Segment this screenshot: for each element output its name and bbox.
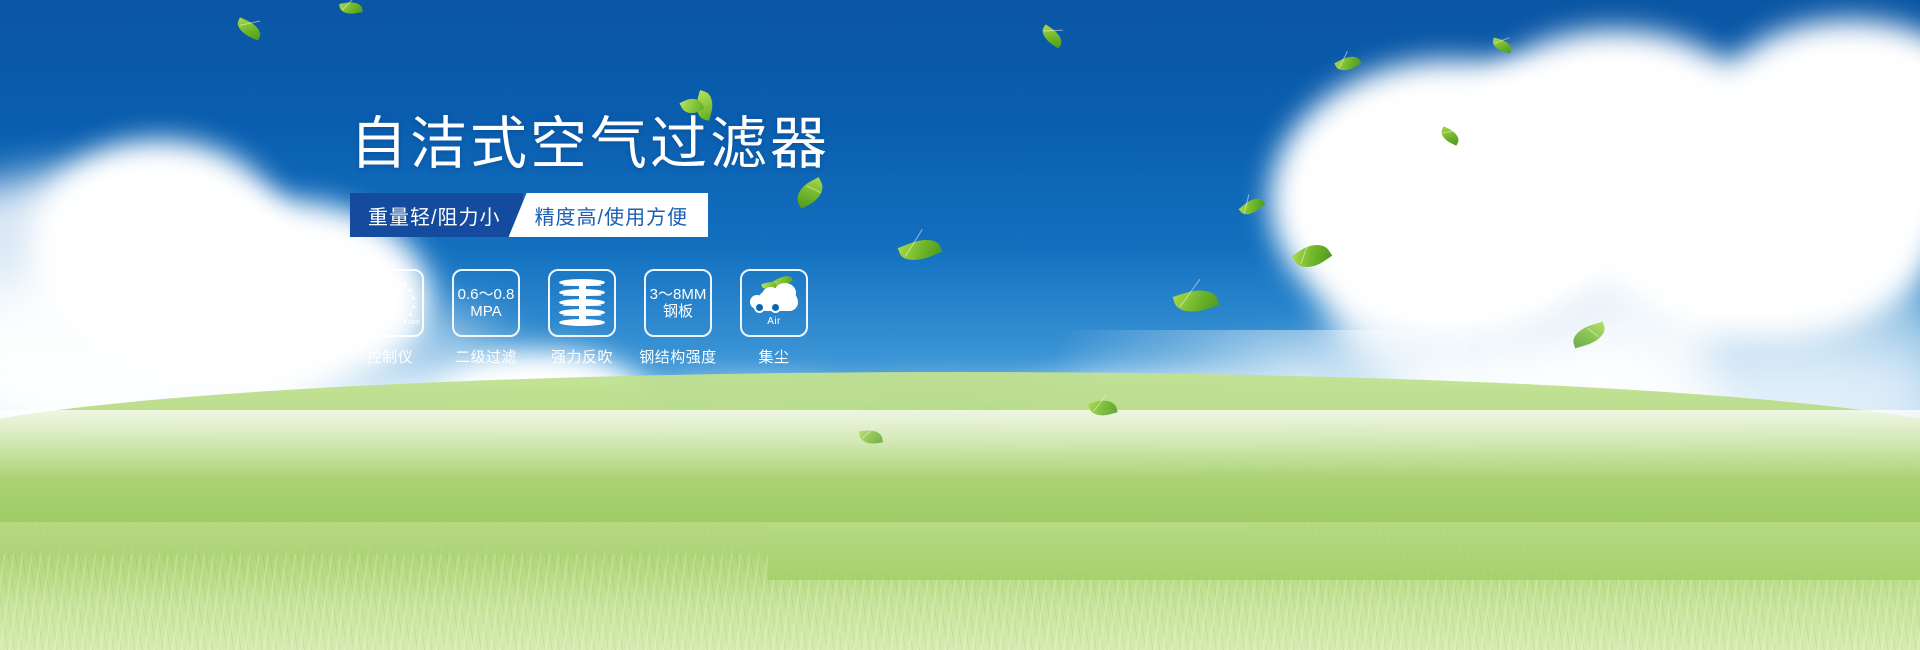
feature-icon-list: NO OFF 控制仪 0.6～0.8 MPA 二级过滤 — [355, 269, 809, 367]
steel-spec: 3～8MM 钢板 — [650, 286, 707, 320]
badge-weight-resistance: 重量轻/阻力小 — [350, 193, 523, 237]
pressure-unit: MPA — [458, 303, 515, 320]
pressure-range: 0.6～0.8 — [458, 286, 515, 303]
feature-item-dust-collection[interactable]: Air 集尘 — [739, 269, 809, 367]
feature-item-two-stage-filter[interactable]: 0.6～0.8 MPA 二级过滤 — [451, 269, 521, 367]
steel-material: 钢板 — [650, 303, 707, 320]
air-label: Air — [748, 316, 800, 327]
banner-content: 自洁式空气过滤器 重量轻/阻力小 精度高/使用方便 — [0, 0, 1920, 650]
dust-cloud-icon: Air — [748, 281, 800, 325]
feature-caption: 控制仪 — [367, 346, 414, 367]
page-title: 自洁式空气过滤器 — [350, 112, 830, 176]
feature-badges: 重量轻/阻力小 精度高/使用方便 — [350, 193, 708, 237]
feature-caption: 钢结构强度 — [639, 346, 717, 367]
feature-caption: 二级过滤 — [455, 346, 517, 367]
feature-item-backblow[interactable]: 强力反吹 — [547, 269, 617, 367]
cartridge-icon — [559, 278, 605, 328]
steel-thickness: 3～8MM — [650, 286, 707, 303]
title-leaf-icon — [682, 92, 724, 120]
feature-icon-box — [548, 269, 616, 337]
feature-icon-box: 0.6～0.8 MPA — [452, 269, 520, 337]
feature-caption: 集尘 — [758, 346, 789, 367]
gauge-label-on: NO — [361, 309, 370, 315]
feature-icon-box: Air — [740, 269, 808, 337]
feature-item-steel-strength[interactable]: 3～8MM 钢板 钢结构强度 — [643, 269, 713, 367]
feature-item-controller[interactable]: NO OFF 控制仪 — [355, 269, 425, 367]
product-banner: 自洁式空气过滤器 重量轻/阻力小 精度高/使用方便 — [0, 0, 1920, 650]
pressure-spec: 0.6～0.8 MPA — [458, 286, 515, 320]
gauge-icon: NO OFF — [363, 279, 417, 327]
feature-icon-box: NO OFF — [356, 269, 424, 337]
feature-caption: 强力反吹 — [551, 346, 613, 367]
badge-precision-ease: 精度高/使用方便 — [509, 193, 709, 237]
gauge-label-off: OFF — [408, 320, 420, 326]
feature-icon-box: 3～8MM 钢板 — [644, 269, 712, 337]
